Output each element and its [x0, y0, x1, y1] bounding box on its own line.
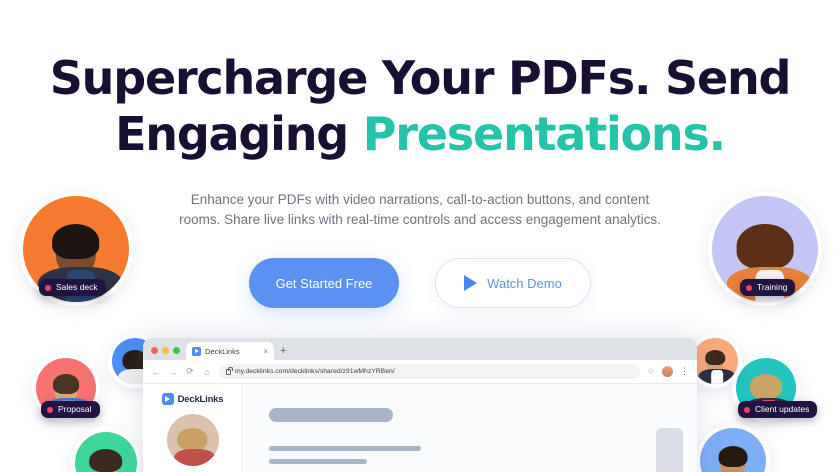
lock-icon: [226, 369, 231, 375]
status-badge: Proposal: [41, 401, 100, 418]
new-tab-icon[interactable]: +: [280, 345, 286, 360]
badge-dot-icon: [746, 285, 752, 291]
url-text: my.decklinks.com/decklinks/shared/z91wMh…: [235, 368, 395, 375]
url-input[interactable]: my.decklinks.com/decklinks/shared/z91wMh…: [219, 364, 640, 379]
badge-label: Training: [757, 282, 787, 293]
browser-window-mockup: DeckLinks × + ← → ⟳ ⌂ my.decklinks.com/d…: [143, 338, 697, 472]
back-arrow-icon[interactable]: ←: [151, 367, 161, 377]
avatar-photo: [692, 338, 738, 384]
headline-line-2: Engaging Presentations.: [0, 106, 840, 162]
skeleton-line-placeholder: [269, 459, 367, 464]
forward-arrow-icon[interactable]: →: [168, 367, 178, 377]
decklinks-logo-icon: [162, 393, 174, 405]
skeleton-line-placeholder: [269, 446, 421, 451]
headline-accent: Presentations.: [363, 107, 725, 161]
hero-subheading: Enhance your PDFs with video narrations,…: [170, 190, 670, 230]
headline-line-2-plain: Engaging: [115, 107, 363, 161]
get-started-free-button[interactable]: Get Started Free: [249, 258, 399, 308]
skeleton-block-placeholder: [656, 428, 683, 472]
app-logo-text: DeckLinks: [178, 394, 224, 405]
minimize-window-icon[interactable]: [162, 347, 169, 354]
status-badge: Client updates: [738, 401, 817, 418]
hero-section: Supercharge Your PDFs. Send Engaging Pre…: [0, 0, 840, 472]
badge-label: Proposal: [58, 404, 92, 415]
avatar-face: [698, 352, 731, 384]
avatar-green: [75, 432, 137, 472]
browser-tab-bar: DeckLinks × +: [143, 338, 697, 360]
skeleton-title-placeholder: [269, 408, 393, 422]
app-content-area: [243, 384, 697, 472]
decklinks-favicon-icon: [192, 347, 201, 356]
presenter-avatar: [167, 414, 219, 466]
home-icon[interactable]: ⌂: [202, 367, 212, 377]
badge-dot-icon: [744, 407, 750, 413]
avatar-face: [174, 430, 211, 466]
badge-dot-icon: [45, 285, 51, 291]
avatar-face: [84, 451, 129, 472]
close-window-icon[interactable]: [151, 347, 158, 354]
maximize-window-icon[interactable]: [173, 347, 180, 354]
close-tab-icon[interactable]: ×: [263, 347, 268, 356]
bookmark-star-icon[interactable]: ☆: [647, 366, 655, 377]
play-icon: [464, 275, 477, 291]
watch-demo-label: Watch Demo: [487, 276, 562, 291]
avatar-photo: [700, 428, 766, 472]
avatar-sales-deck: Sales deck: [23, 196, 129, 302]
avatar-photo: [75, 432, 137, 472]
status-badge: Sales deck: [39, 279, 106, 296]
app-sidebar: DeckLinks Linda Bell: [143, 384, 243, 472]
avatar-training: Training: [712, 196, 818, 302]
app-viewport: DeckLinks Linda Bell: [143, 384, 697, 472]
avatar-proposal: Proposal: [36, 358, 96, 418]
window-controls: [151, 347, 180, 360]
browser-tab-title: DeckLinks: [205, 347, 240, 356]
headline-line-1: Supercharge Your PDFs. Send: [50, 51, 791, 105]
browser-address-bar: ← → ⟳ ⌂ my.decklinks.com/decklinks/share…: [143, 360, 697, 384]
status-badge: Training: [740, 279, 795, 296]
watch-demo-button[interactable]: Watch Demo: [435, 258, 591, 308]
page-title: Supercharge Your PDFs. Send Engaging Pre…: [0, 50, 840, 162]
avatar-client-updates: Client updates: [736, 358, 796, 418]
avatar-face: [709, 449, 757, 472]
reload-icon[interactable]: ⟳: [185, 366, 195, 377]
badge-dot-icon: [47, 407, 53, 413]
app-logo[interactable]: DeckLinks: [151, 393, 234, 405]
browser-tab[interactable]: DeckLinks ×: [186, 342, 274, 360]
badge-label: Sales deck: [56, 282, 98, 293]
badge-label: Client updates: [755, 404, 809, 415]
cta-button-group: Get Started Free Watch Demo: [249, 258, 591, 308]
browser-profile-avatar[interactable]: [662, 366, 673, 377]
avatar-blue-right: [700, 428, 766, 472]
browser-menu-icon[interactable]: ⋮: [680, 366, 689, 377]
avatar-peach-right: [692, 338, 738, 384]
